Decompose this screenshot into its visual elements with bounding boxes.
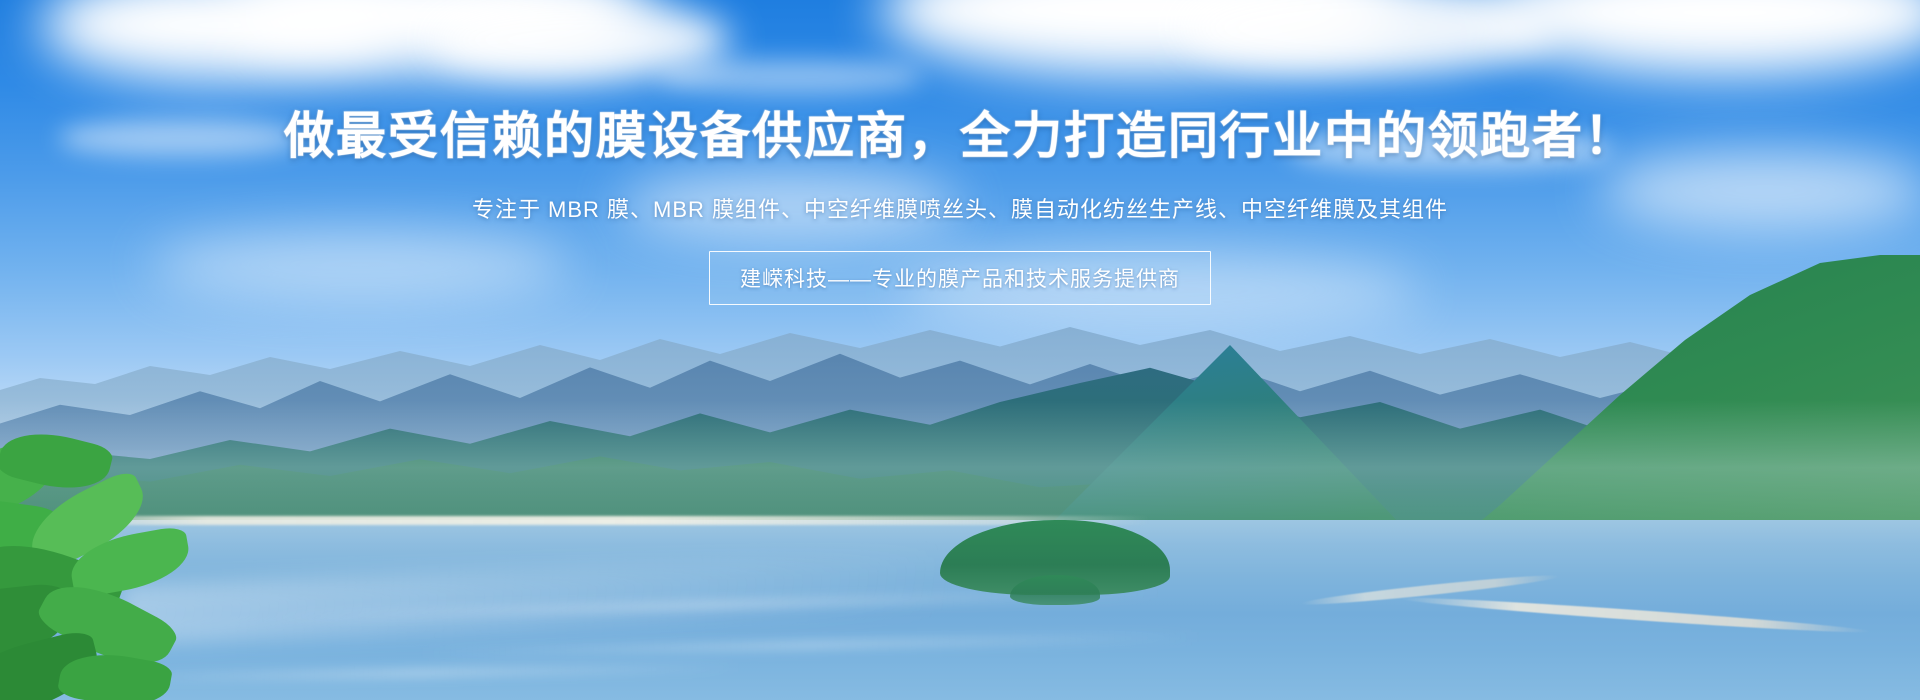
hero-banner: 做最受信赖的膜设备供应商，全力打造同行业中的领跑者！ 专注于 MBR 膜、MBR… [0, 0, 1920, 700]
cloud-shape [150, 230, 570, 300]
cloud-shape [1600, 150, 1920, 230]
cloud-shape [1290, 130, 1610, 170]
foreground-tree [0, 430, 260, 700]
cloud-shape [900, 250, 1420, 330]
cloud-shape [620, 170, 960, 240]
cloud-shape [60, 120, 300, 156]
cloud-shape [660, 60, 920, 94]
